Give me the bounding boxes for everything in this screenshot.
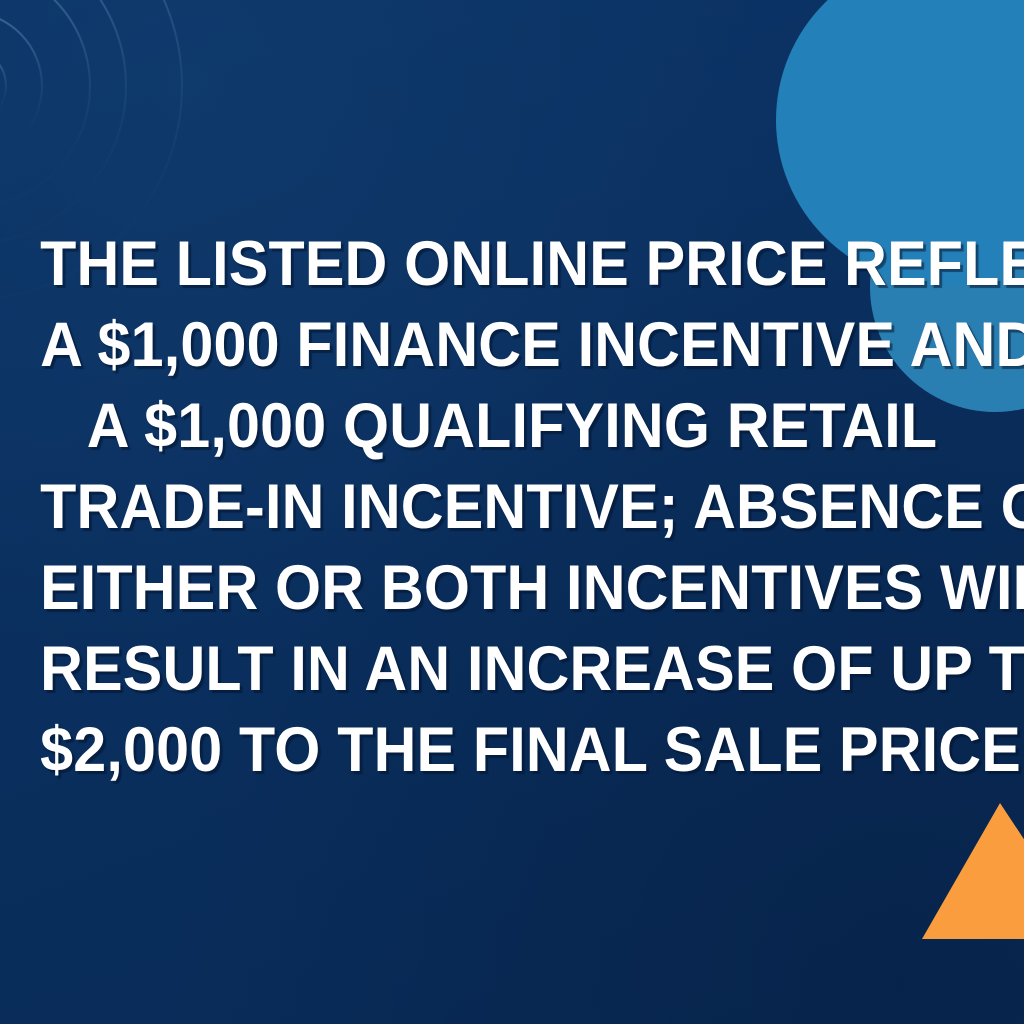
headline-line-5: EITHER OR BOTH INCENTIVES WILL (40, 548, 984, 629)
headline-line-7: $2,000 TO THE FINAL SALE PRICE. (40, 710, 984, 791)
headline-line-6: RESULT IN AN INCREASE OF UP TO (40, 629, 984, 710)
headline-line-1: THE LISTED ONLINE PRICE REFLECTS (40, 224, 984, 305)
headline-line-3: A $1,000 QUALIFYING RETAIL (40, 386, 984, 467)
disclaimer-headline: THE LISTED ONLINE PRICE REFLECTS A $1,00… (0, 224, 1024, 791)
headline-line-4: TRADE-IN INCENTIVE; ABSENCE OF (40, 467, 984, 548)
accent-triangle (922, 803, 1024, 939)
headline-line-2: A $1,000 FINANCE INCENTIVE AND (40, 305, 984, 386)
graphic-canvas: THE LISTED ONLINE PRICE REFLECTS A $1,00… (0, 0, 1024, 1024)
